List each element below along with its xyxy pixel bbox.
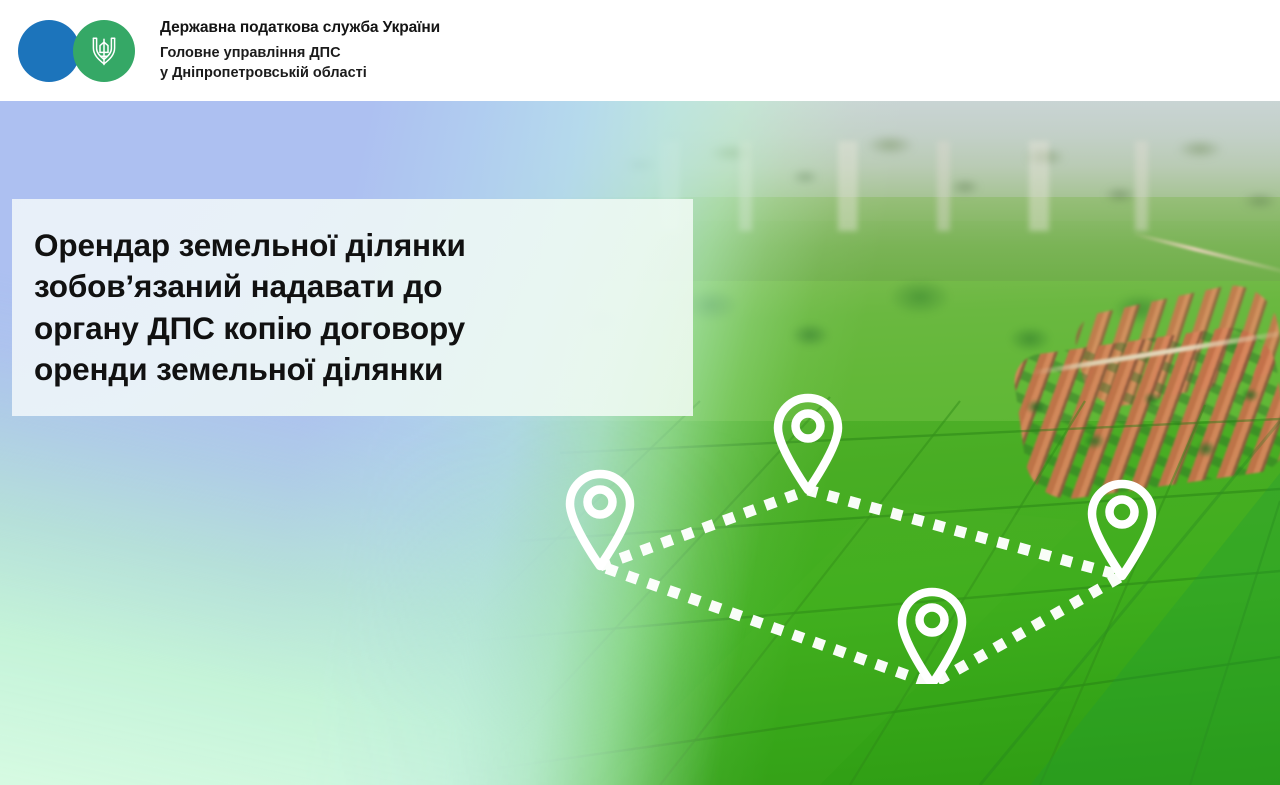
headline-line-3: органу ДПС копію договору: [34, 308, 674, 349]
page-headline: Орендар земельної ділянки зобов’язаний н…: [34, 225, 674, 389]
agency-department-line1: Головне управління ДПС: [160, 44, 440, 63]
agency-name-block: Державна податкова служба України Головн…: [160, 18, 440, 83]
headline-line-2: зобов’язаний надавати до: [34, 266, 674, 307]
agency-logo: [18, 20, 142, 82]
headline-line-4: оренди земельної ділянки: [34, 349, 674, 390]
agency-title: Державна податкова служба України: [160, 18, 440, 37]
agency-department: Головне управління ДПС у Дніпропетровськ…: [160, 44, 440, 83]
agency-department-line2: у Дніпропетровській області: [160, 64, 440, 83]
headline-line-1: Орендар земельної ділянки: [34, 225, 674, 266]
poster-page: Державна податкова служба України Головн…: [0, 0, 1280, 785]
logo-blue-circle-icon: [18, 20, 80, 82]
site-header: Державна податкова служба України Головн…: [0, 0, 1280, 101]
headline-panel: Орендар земельної ділянки зобов’язаний н…: [12, 199, 693, 416]
ukraine-trident-emblem-icon: [73, 20, 135, 82]
